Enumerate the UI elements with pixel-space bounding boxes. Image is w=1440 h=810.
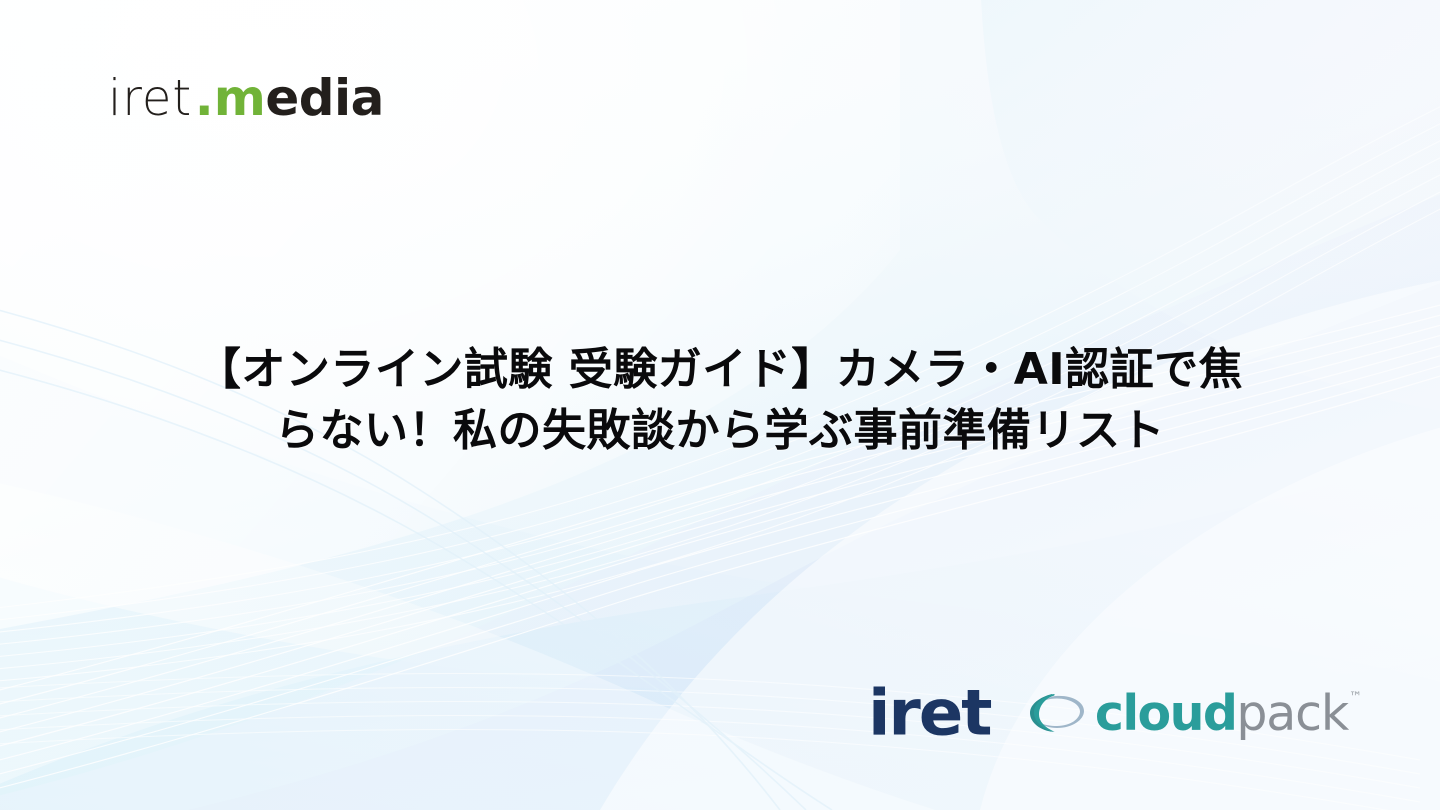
slide-title: 【オンライン試験 受験ガイド】カメラ・AI認証で焦 らない！私の失敗談から学ぶ事… — [130, 340, 1310, 461]
footer-logo-group: iret cloudpack™ — [868, 682, 1362, 744]
cloudpack-pack-text: pack — [1236, 689, 1348, 738]
cloudpack-wordmark: cloudpack™ — [1095, 689, 1362, 738]
iret-media-wordmark: iret.media — [108, 68, 384, 128]
cloudpack-logo: cloudpack™ — [1026, 689, 1362, 738]
trademark-symbol: ™ — [1349, 691, 1362, 704]
wordmark-m-text: m — [214, 73, 266, 123]
title-line-2: らない！私の失敗談から学ぶ事前準備リスト — [130, 401, 1310, 462]
wordmark-edia-text: edia — [265, 73, 384, 123]
slide-canvas: iret.media 【オンライン試験 受験ガイド】カメラ・AI認証で焦 らない… — [0, 0, 1440, 810]
wordmark-iret-text: iret — [108, 73, 192, 123]
iret-corporate-logo: iret — [868, 681, 990, 744]
cloudpack-cloud-text: cloud — [1095, 689, 1236, 738]
title-line-1: 【オンライン試験 受験ガイド】カメラ・AI認証で焦 — [130, 340, 1310, 401]
cloudpack-swirl-icon — [1026, 690, 1088, 736]
wordmark-dot: . — [195, 73, 214, 123]
